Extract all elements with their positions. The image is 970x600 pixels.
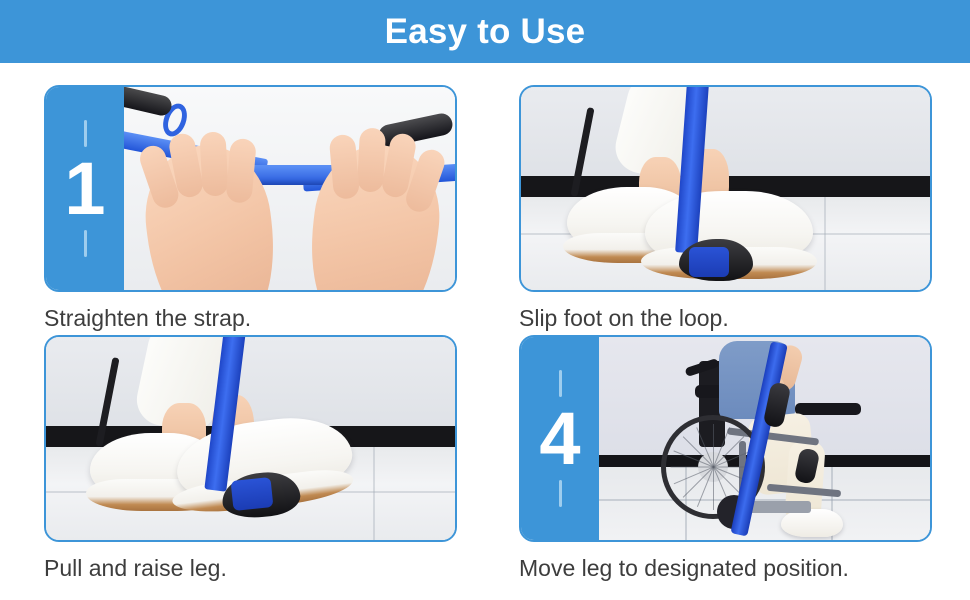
steps-grid: 1 bbox=[44, 85, 932, 585]
header-banner: Easy to Use bbox=[0, 0, 970, 63]
wheelchair-armrest-far bbox=[795, 403, 861, 415]
step-3-caption: Pull and raise leg. bbox=[44, 555, 457, 582]
tile-grout-line bbox=[824, 197, 826, 290]
wheelchair-footplate bbox=[749, 501, 811, 513]
step-3-photo bbox=[46, 337, 455, 540]
step-card-2: 2 Slip foot on th bbox=[519, 85, 932, 335]
step-1-image-card: 1 bbox=[44, 85, 457, 292]
person-shoe bbox=[781, 509, 843, 537]
badge-dash-top-icon bbox=[84, 120, 87, 147]
strap-foot-loop bbox=[231, 477, 274, 511]
step-4-photo bbox=[599, 337, 930, 540]
step-1-number-badge: 1 bbox=[46, 87, 124, 290]
step-4-number-badge: 4 bbox=[521, 337, 599, 540]
step-2-photo bbox=[521, 87, 930, 290]
strap-foot-loop bbox=[689, 247, 729, 277]
step-4-number: 4 bbox=[539, 406, 580, 471]
finger bbox=[357, 127, 386, 192]
step-3-image-card: 3 bbox=[44, 335, 457, 542]
step-1-number: 1 bbox=[64, 156, 105, 221]
tile-grout-line bbox=[373, 447, 375, 540]
step-card-3: 3 Pull and raise bbox=[44, 335, 457, 585]
step-2-image-card: 2 bbox=[519, 85, 932, 292]
step-4-image-card: 4 bbox=[519, 335, 932, 542]
step-card-1: 1 bbox=[44, 85, 457, 335]
finger bbox=[199, 131, 228, 196]
step-2-caption: Slip foot on the loop. bbox=[519, 305, 932, 332]
badge-dash-bottom-icon bbox=[84, 230, 87, 257]
step-1-caption: Straighten the strap. bbox=[44, 305, 457, 332]
page-title: Easy to Use bbox=[385, 12, 586, 52]
finger bbox=[225, 138, 256, 204]
badge-dash-top-icon bbox=[559, 370, 562, 397]
step-4-caption: Move leg to designated position. bbox=[519, 555, 932, 582]
step-1-photo bbox=[124, 87, 455, 290]
badge-dash-bottom-icon bbox=[559, 480, 562, 507]
step-card-4: 4 bbox=[519, 335, 932, 585]
